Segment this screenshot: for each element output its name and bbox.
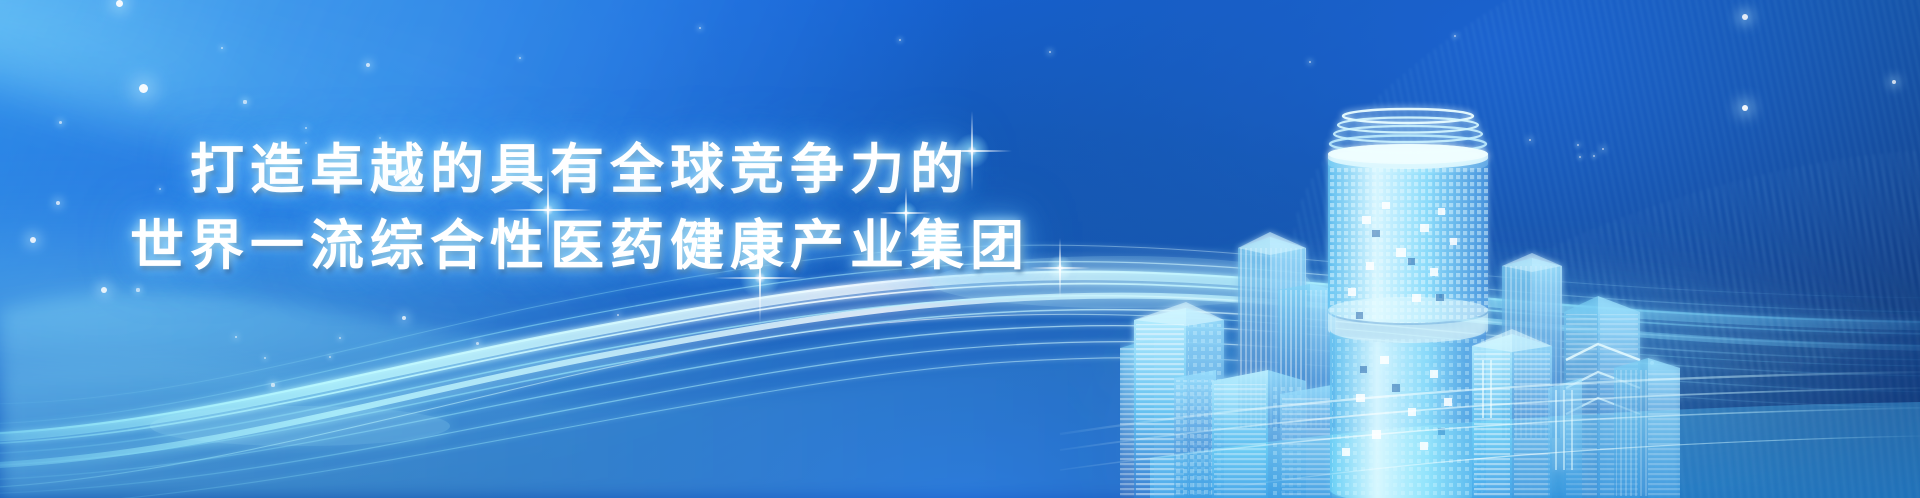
particle-dot — [1579, 156, 1581, 158]
radial-line-texture-right-top — [1228, 0, 1920, 498]
particle-dot — [519, 57, 521, 59]
particle-dot — [1593, 155, 1595, 157]
particle-dot — [243, 100, 246, 103]
particle-dot — [617, 314, 620, 317]
particle-dot — [366, 63, 370, 67]
particle-dot — [1742, 14, 1748, 20]
radial-line-texture-right-bottom — [1278, 64, 1920, 498]
city-glow — [1100, 238, 1620, 498]
particle-dot — [899, 39, 901, 41]
particle-dot — [339, 337, 341, 339]
hero-banner: 打造卓越的具有全球竞争力的 世界一流综合性医药健康产业集团 — [0, 0, 1920, 498]
particle-dot — [1577, 144, 1579, 146]
particle-dot — [101, 287, 107, 293]
particle-dot — [1529, 139, 1532, 142]
particle-dot — [221, 47, 223, 49]
ground-sweep-lines — [0, 338, 1920, 498]
particle-dot — [1892, 80, 1897, 85]
particle-dot — [305, 127, 308, 130]
particle-dot — [235, 336, 238, 339]
particle-dot — [1650, 361, 1655, 366]
particle-dot — [136, 288, 139, 291]
particle-dot — [329, 356, 331, 358]
particle-dot — [1602, 148, 1605, 151]
particle-dot — [139, 84, 148, 93]
right-glow-haze — [1060, 260, 1920, 460]
particle-dot — [699, 27, 701, 29]
headline-line-1: 打造卓越的具有全球竞争力的 — [0, 132, 1160, 208]
particle-dot — [402, 316, 407, 321]
headline: 打造卓越的具有全球竞争力的 世界一流综合性医药健康产业集团 — [0, 132, 1160, 284]
particle-dot — [476, 342, 479, 345]
particle-dot — [59, 121, 62, 124]
particle-dot — [1454, 35, 1456, 37]
particle-dot — [1742, 105, 1749, 112]
particle-dot — [264, 357, 266, 359]
particle-dot — [1309, 61, 1311, 63]
city-skyline — [1120, 98, 1680, 498]
headline-line-2: 世界一流综合性医药健康产业集团 — [0, 208, 1160, 284]
particle-dot — [1049, 51, 1052, 54]
particle-dot — [116, 0, 123, 7]
particle-dot — [271, 383, 274, 386]
